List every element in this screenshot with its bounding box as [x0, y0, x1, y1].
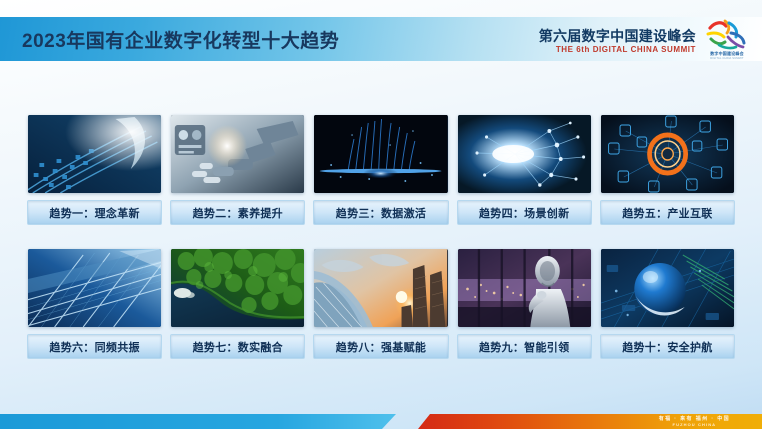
page-title: 2023年国有企业数字化转型十大趋势: [22, 26, 339, 53]
trend-thumbnail-hub: [601, 115, 734, 193]
slide-canvas: 2023年国有企业数字化转型十大趋势 第六届数字中国建设峰会 THE 6th D…: [0, 0, 762, 429]
trend-label: 趋势六：同频共振: [27, 334, 162, 359]
trend-card[interactable]: 趋势八：强基赋能: [314, 249, 447, 359]
summit-title-cn: 第六届数字中国建设峰会: [539, 29, 696, 43]
trend-thumbnail-robot: [458, 249, 591, 327]
footer-text-cn: 有福 · 来有 福州 · 中国: [659, 417, 730, 422]
trend-label: 趋势八：强基赋能: [313, 334, 448, 359]
trend-card-grid: 趋势一：理念革新: [28, 115, 734, 359]
footer-gap: [396, 414, 418, 429]
trend-label: 趋势一：理念革新: [27, 200, 162, 225]
trend-thumbnail-robotarm: [171, 115, 304, 193]
trend-thumbnail-solar: [28, 249, 161, 327]
trend-card[interactable]: 趋势六：同频共振: [28, 249, 161, 359]
footer-blue-segment: [0, 414, 396, 429]
trend-label: 趋势九：智能引领: [457, 334, 592, 359]
trend-card[interactable]: 趋势四：场景创新: [458, 115, 591, 225]
footer-text-en: FUZHOU CHINA: [673, 423, 717, 427]
trend-thumbnail-sphere: [601, 249, 734, 327]
trend-card[interactable]: 趋势二：素养提升: [171, 115, 304, 225]
trend-card[interactable]: 趋势三：数据激活: [314, 115, 447, 225]
trend-thumbnail-sunset: [314, 249, 447, 327]
trend-label: 趋势四：场景创新: [457, 200, 592, 225]
trend-thumbnail-burst: [458, 115, 591, 193]
trend-label: 趋势十：安全护航: [600, 334, 735, 359]
summit-calligraphy-logo-icon: [705, 19, 749, 50]
summit-logo-sub-en: DIGITAL CHINA SUMMIT: [710, 57, 743, 60]
trend-thumbnail-helix: [28, 115, 161, 193]
summit-branding: 第六届数字中国建设峰会 THE 6th DIGITAL CHINA SUMMIT…: [539, 19, 752, 63]
trend-thumbnail-particles: [314, 115, 447, 193]
summit-text-group: 第六届数字中国建设峰会 THE 6th DIGITAL CHINA SUMMIT: [539, 29, 696, 54]
trend-card[interactable]: 趋势十：安全护航: [601, 249, 734, 359]
summit-title-en: THE 6th DIGITAL CHINA SUMMIT: [556, 46, 696, 54]
trend-card[interactable]: 趋势一：理念革新: [28, 115, 161, 225]
trend-card[interactable]: 趋势五：产业互联: [601, 115, 734, 225]
trend-card[interactable]: 趋势九：智能引领: [458, 249, 591, 359]
trend-label: 趋势三：数据激活: [313, 200, 448, 225]
footer-warm-segment: 有福 · 来有 福州 · 中国 FUZHOU CHINA: [418, 414, 762, 429]
trend-label: 趋势五：产业互联: [600, 200, 735, 225]
footer-bar: 有福 · 来有 福州 · 中国 FUZHOU CHINA: [0, 414, 762, 429]
summit-logo: 数字中国建设峰会 DIGITAL CHINA SUMMIT: [702, 19, 752, 63]
footer-text-group: 有福 · 来有 福州 · 中国 FUZHOU CHINA: [659, 417, 730, 427]
trend-label: 趋势七：数实融合: [170, 334, 305, 359]
trend-label: 趋势二：素养提升: [170, 200, 305, 225]
trend-card[interactable]: 趋势七：数实融合: [171, 249, 304, 359]
trend-thumbnail-forest: [171, 249, 304, 327]
